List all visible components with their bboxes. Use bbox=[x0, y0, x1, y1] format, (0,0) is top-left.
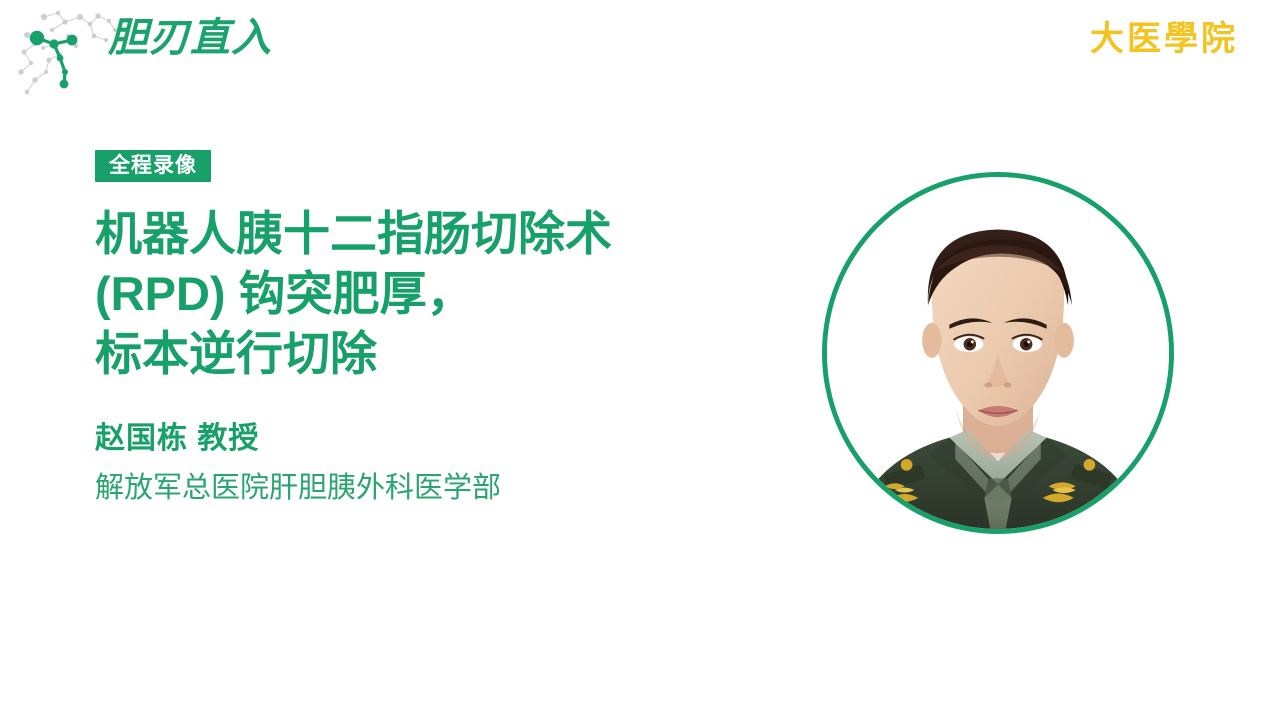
presenter-name: 赵国栋 教授 bbox=[95, 420, 795, 458]
academy-logo-text: 大医學院 bbox=[1090, 22, 1238, 56]
presenter-block: 赵国栋 教授 解放军总医院肝胆胰外科医学部 bbox=[95, 420, 795, 506]
recording-badge: 全程录像 bbox=[95, 150, 211, 182]
slide-header: 胆刃直入 大医學院 bbox=[0, 0, 1280, 110]
brand-logo-text: 胆刃直入 bbox=[108, 18, 272, 58]
presenter-portrait-frame bbox=[822, 172, 1174, 534]
presentation-slide: 胆刃直入 大医學院 全程录像 机器人胰十二指肠切除术 (RPD) 钩突肥厚， 标… bbox=[0, 0, 1280, 720]
presenter-portrait-photo bbox=[827, 177, 1169, 529]
session-title-line-1: 机器人胰十二指肠切除术 bbox=[95, 204, 795, 264]
session-title: 机器人胰十二指肠切除术 (RPD) 钩突肥厚， 标本逆行切除 bbox=[95, 204, 795, 384]
session-title-line-3: 标本逆行切除 bbox=[95, 324, 795, 384]
presenter-affiliation: 解放军总医院肝胆胰外科医学部 bbox=[95, 470, 795, 506]
slide-content-left: 全程录像 机器人胰十二指肠切除术 (RPD) 钩突肥厚， 标本逆行切除 赵国栋 … bbox=[95, 150, 795, 506]
session-title-line-2: (RPD) 钩突肥厚， bbox=[95, 264, 795, 324]
